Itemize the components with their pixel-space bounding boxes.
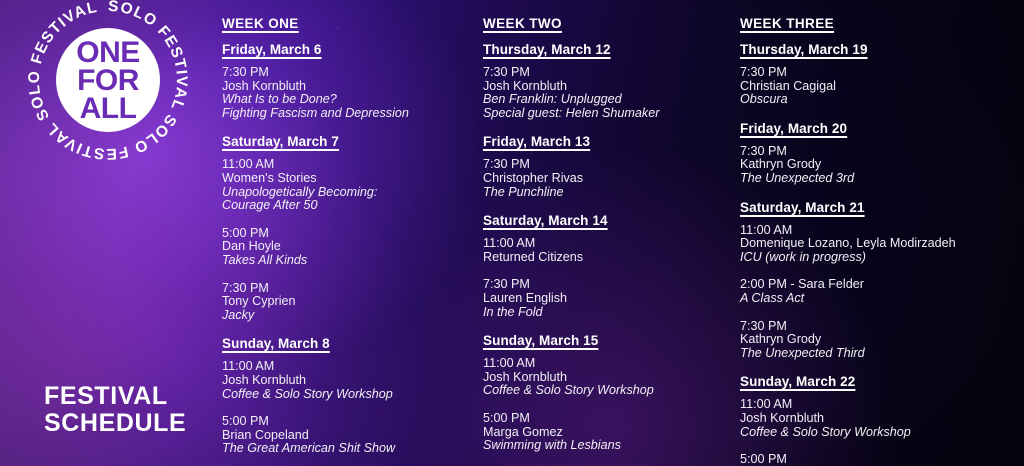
event-entry: 7:30 PMLauren EnglishIn the Fold: [483, 278, 733, 319]
event-info-line: Josh Kornbluth: [483, 371, 733, 385]
event-title-line: Swimming with Lesbians: [483, 439, 733, 453]
event-title-line: Courage After 50: [222, 199, 472, 213]
day-heading: Saturday, March 14: [483, 213, 733, 228]
event-info-line: Kathryn Grody: [740, 333, 1020, 347]
schedule-column: WEEK THREEThursday, March 197:30 PMChris…: [740, 16, 1020, 466]
event-entry: 5:00 PMMarga GomezSwimming with Lesbians: [483, 412, 733, 453]
day-heading: Friday, March 6: [222, 42, 472, 57]
festival-schedule-poster: SOLO FESTIVAL SOLO FESTIVAL SOLO FESTIVA…: [0, 0, 1024, 466]
event-info-line: Josh Kornbluth: [483, 80, 733, 94]
event-info-line: 11:00 AM: [483, 357, 733, 371]
event-title-line: Obscura: [740, 93, 1020, 107]
schedule-column: WEEK TWOThursday, March 127:30 PMJosh Ko…: [483, 16, 733, 466]
event-info-line: 7:30 PM: [483, 278, 733, 292]
event-info-line: 5:00 PM: [740, 453, 1020, 466]
event-entry: 11:00 AMJosh KornbluthCoffee & Solo Stor…: [740, 398, 1020, 439]
event-title-line: Unapologetically Becoming:: [222, 186, 472, 200]
event-info-line: 7:30 PM: [222, 66, 472, 80]
event-title-line: The Unexpected Third: [740, 347, 1020, 361]
event-entry: 7:30 PMTony CyprienJacky: [222, 282, 472, 323]
event-title-line: Takes All Kinds: [222, 254, 472, 268]
day-heading: Thursday, March 19: [740, 42, 1020, 57]
event-title-line: The Unexpected 3rd: [740, 172, 1020, 186]
event-entry: 7:30 PMKathryn GrodyThe Unexpected Third: [740, 320, 1020, 361]
event-title-line: Jacky: [222, 309, 472, 323]
event-info-line: Domenique Lozano, Leyla Modirzadeh: [740, 237, 1020, 251]
event-info-line: Josh Kornbluth: [740, 412, 1020, 426]
schedule-columns: WEEK ONEFriday, March 67:30 PMJosh Kornb…: [0, 0, 1024, 466]
event-entry: 7:30 PMChristian CagigalObscura: [740, 66, 1020, 107]
event-info-line: Josh Kornbluth: [222, 80, 472, 94]
event-info-line: 5:00 PM: [222, 227, 472, 241]
event-info-line: 7:30 PM: [483, 66, 733, 80]
event-info-line: Tony Cyprien: [222, 295, 472, 309]
event-info-line: Lauren English: [483, 292, 733, 306]
event-entry: 7:30 PMChristopher RivasThe Punchline: [483, 158, 733, 199]
day-heading: Saturday, March 7: [222, 134, 472, 149]
event-info-line: 7:30 PM: [740, 66, 1020, 80]
event-entry: 7:30 PMJosh KornbluthWhat Is to be Done?…: [222, 66, 472, 120]
event-entry: 11:00 AMWomen's StoriesUnapologetically …: [222, 158, 472, 212]
event-title-line: Ben Franklin: Unplugged: [483, 93, 733, 107]
event-entry: 7:30 PMKathryn GrodyThe Unexpected 3rd: [740, 145, 1020, 186]
day-heading: Sunday, March 22: [740, 374, 1020, 389]
event-info-line: Christian Cagigal: [740, 80, 1020, 94]
week-title: WEEK THREE: [740, 16, 1020, 31]
event-title-line: ICU (work in progress): [740, 251, 1020, 265]
day-heading: Thursday, March 12: [483, 42, 733, 57]
event-entry: 11:00 AMReturned Citizens: [483, 237, 733, 264]
week-title: WEEK TWO: [483, 16, 733, 31]
week-title: WEEK ONE: [222, 16, 472, 31]
event-info-line: Marga Gomez: [483, 426, 733, 440]
day-heading: Saturday, March 21: [740, 200, 1020, 215]
event-title-line: Fighting Fascism and Depression: [222, 107, 472, 121]
event-info-line: Kathryn Grody: [740, 158, 1020, 172]
event-entry: 5:00 PMKathryn GrodyThe Unexpected 3rd: [740, 453, 1020, 466]
event-title-line: A Class Act: [740, 292, 1020, 306]
event-title-line: What Is to be Done?: [222, 93, 472, 107]
event-title-line: Coffee & Solo Story Workshop: [740, 426, 1020, 440]
schedule-column: WEEK ONEFriday, March 67:30 PMJosh Kornb…: [222, 16, 472, 466]
event-entry: 7:30 PMJosh KornbluthBen Franklin: Unplu…: [483, 66, 733, 120]
event-entry: 5:00 PMBrian CopelandThe Great American …: [222, 415, 472, 456]
event-entry: 2:00 PM - Sara FelderA Class Act: [740, 278, 1020, 305]
event-info-line: 11:00 AM: [483, 237, 733, 251]
event-title-line: The Punchline: [483, 186, 733, 200]
event-title-line: Special guest: Helen Shumaker: [483, 107, 733, 121]
event-entry: 11:00 AMJosh KornbluthCoffee & Solo Stor…: [483, 357, 733, 398]
event-title-line: Coffee & Solo Story Workshop: [483, 384, 733, 398]
event-title-line: In the Fold: [483, 306, 733, 320]
event-info-line: Returned Citizens: [483, 251, 733, 265]
event-info-line: 5:00 PM: [222, 415, 472, 429]
event-info-line: 7:30 PM: [222, 282, 472, 296]
event-info-line: 7:30 PM: [740, 320, 1020, 334]
day-heading: Friday, March 13: [483, 134, 733, 149]
event-info-line: 5:00 PM: [483, 412, 733, 426]
event-entry: 11:00 AMDomenique Lozano, Leyla Modirzad…: [740, 224, 1020, 265]
event-title-line: Coffee & Solo Story Workshop: [222, 388, 472, 402]
event-info-line: 11:00 AM: [740, 224, 1020, 238]
event-info-line: Josh Kornbluth: [222, 374, 472, 388]
event-info-line: 11:00 AM: [222, 158, 472, 172]
event-info-line: Women's Stories: [222, 172, 472, 186]
day-heading: Sunday, March 8: [222, 336, 472, 351]
event-info-line: 11:00 AM: [222, 360, 472, 374]
event-info-line: 11:00 AM: [740, 398, 1020, 412]
event-info-line: 2:00 PM - Sara Felder: [740, 278, 1020, 292]
event-info-line: Dan Hoyle: [222, 240, 472, 254]
event-entry: 5:00 PMDan HoyleTakes All Kinds: [222, 227, 472, 268]
event-info-line: 7:30 PM: [740, 145, 1020, 159]
day-heading: Friday, March 20: [740, 121, 1020, 136]
event-info-line: Christopher Rivas: [483, 172, 733, 186]
event-entry: 11:00 AMJosh KornbluthCoffee & Solo Stor…: [222, 360, 472, 401]
event-info-line: 7:30 PM: [483, 158, 733, 172]
event-title-line: The Great American Shit Show: [222, 442, 472, 456]
event-info-line: Brian Copeland: [222, 429, 472, 443]
day-heading: Sunday, March 15: [483, 333, 733, 348]
